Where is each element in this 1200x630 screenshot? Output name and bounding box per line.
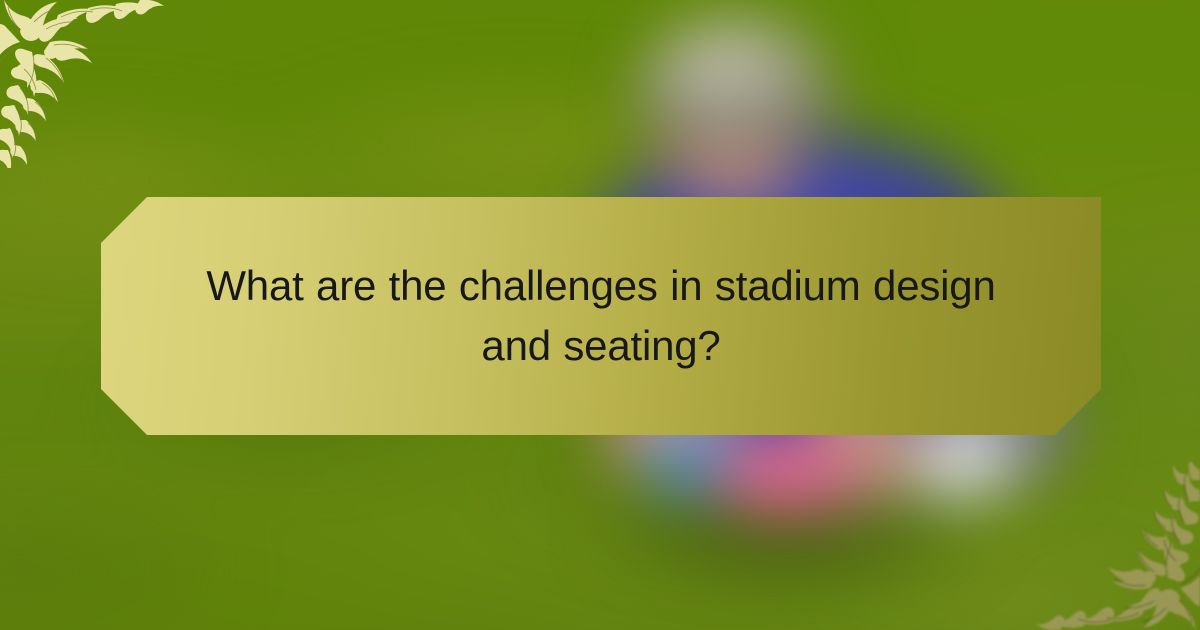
question-card: What are the challenges in stadium desig… <box>0 0 1200 630</box>
figure-cap <box>640 18 830 126</box>
question-banner: What are the challenges in stadium desig… <box>101 197 1101 435</box>
question-banner-inner: What are the challenges in stadium desig… <box>181 256 1021 375</box>
figure-object-pink <box>710 428 860 518</box>
question-title: What are the challenges in stadium desig… <box>181 256 1021 375</box>
